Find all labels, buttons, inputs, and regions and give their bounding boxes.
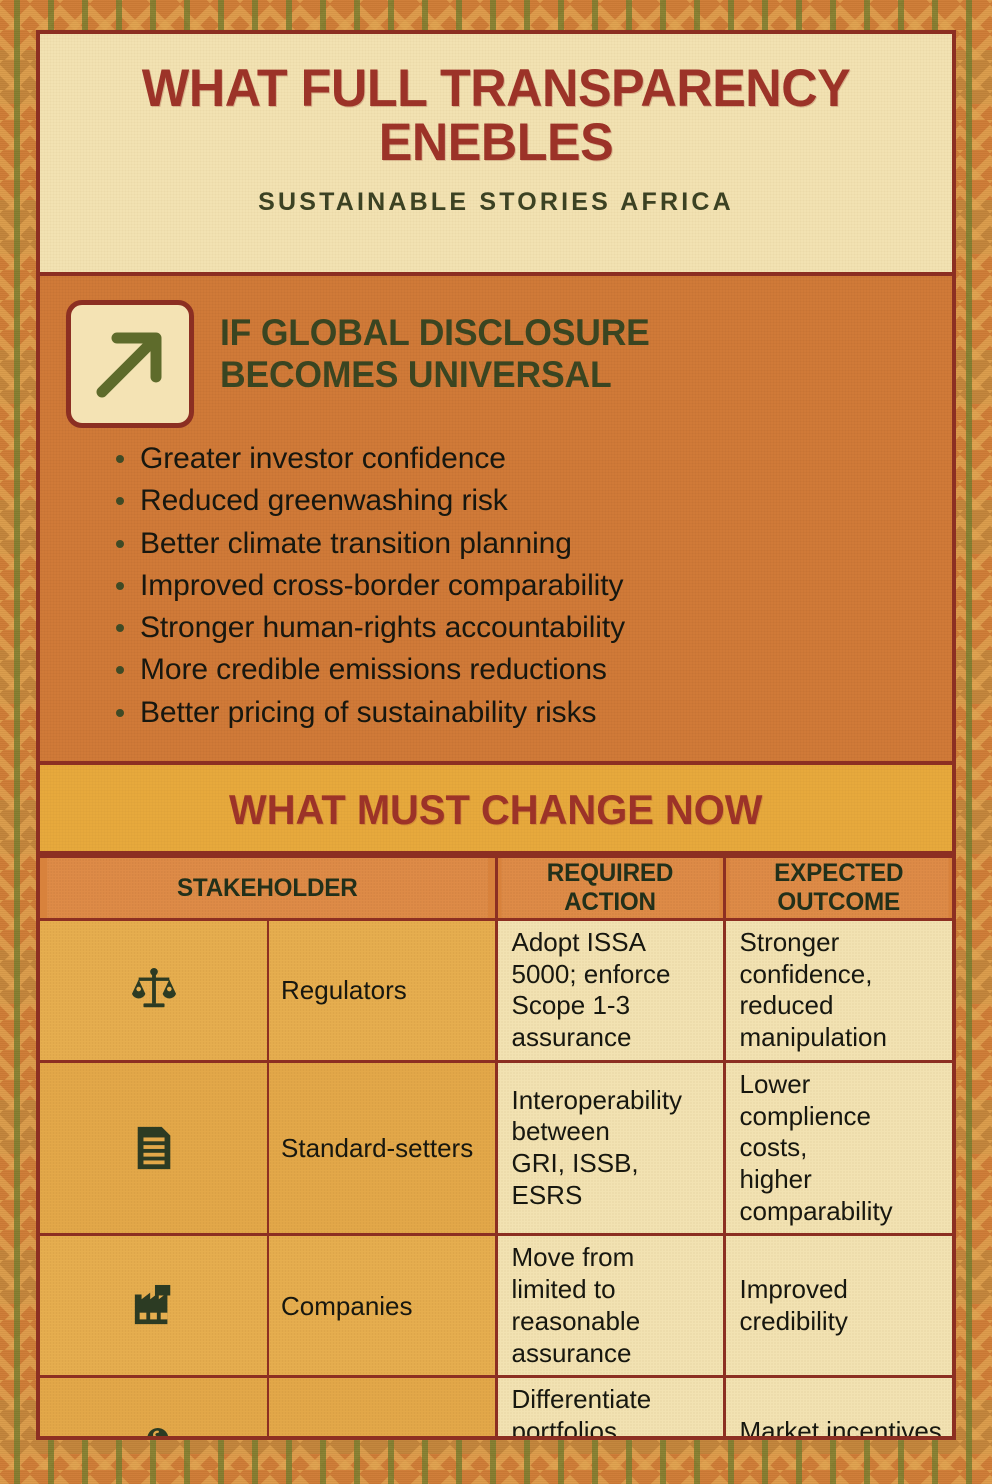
table-row: Regulators Adopt ISSA 5000; enforce Scop… (40, 920, 952, 1062)
expected-outcome-cell: Market incentives for transition (724, 1377, 952, 1440)
action-banner: WHAT MUST CHANGE NOW (40, 765, 952, 855)
table-header-row: STAKEHOLDER REQUIRED ACTION EXPECTED OUT… (40, 857, 952, 920)
scenario-heading-line1: IF GLOBAL DISCLOSURE (220, 312, 650, 354)
outcome-line: Lower complience costs, (740, 1069, 943, 1164)
page-subtitle: SUSTAINABLE STORIES AFRICA (60, 188, 932, 217)
action-line: Adopt ISSA 5000; enforce (512, 927, 713, 990)
list-item: Better climate transition planning (114, 523, 926, 565)
outcome-line: Market incentives (740, 1416, 943, 1440)
action-line: Differentiate portfolios (512, 1384, 713, 1440)
scenario-panel-header: IF GLOBAL DISCLOSURE BECOMES UNIVERSAL (66, 300, 926, 428)
stakeholder-action-table: STAKEHOLDER REQUIRED ACTION EXPECTED OUT… (40, 855, 952, 1440)
scenario-heading: IF GLOBAL DISCLOSURE BECOMES UNIVERSAL (220, 300, 650, 396)
document-icon (40, 1061, 268, 1235)
column-header-expected-outcome: EXPECTED OUTCOME (727, 857, 948, 920)
outcome-line: Stronger confidence, (740, 927, 943, 990)
page-title-line2: ENEBLES (82, 116, 910, 170)
column-header-required-action: REQUIRED ACTION (499, 857, 720, 920)
list-item: Stronger human-rights accountability (114, 607, 926, 649)
expected-outcome-cell: Lower complience costs, higher comparabi… (724, 1061, 952, 1235)
poster-card: WHAT FULL TRANSPARENCY ENEBLES SUSTAINAB… (36, 30, 956, 1440)
expected-outcome-cell: Improved credibility (724, 1235, 952, 1377)
action-line: GRI, ISSB, ESRS (512, 1148, 713, 1211)
required-action-cell: Differentiate portfolios between emitter… (496, 1377, 724, 1440)
title-block: WHAT FULL TRANSPARENCY ENEBLES SUSTAINAB… (40, 34, 952, 276)
page-title: WHAT FULL TRANSPARENCY ENEBLES (82, 62, 910, 170)
action-line: reasonable assurance (512, 1306, 713, 1369)
table-row: Standard-setters Interoperability betwee… (40, 1061, 952, 1235)
scenario-heading-line2: BECOMES UNIVERSAL (220, 354, 650, 396)
outcome-line: Improved credibility (740, 1274, 943, 1337)
expected-outcome-cell: Stronger confidence, reduced manipulatio… (724, 920, 952, 1062)
arrow-up-right-icon (66, 300, 194, 428)
factory-icon (40, 1235, 268, 1377)
stakeholder-label: Standard-setters (268, 1061, 496, 1235)
list-item: More credible emissions reductions (114, 649, 926, 691)
stakeholder-label: Companies (268, 1235, 496, 1377)
hand-holding-coin-icon (40, 1377, 268, 1440)
stakeholder-label: Regulators (268, 920, 496, 1062)
benefits-list: Greater investor confidence Reduced gree… (66, 438, 926, 734)
table-header: STAKEHOLDER REQUIRED ACTION EXPECTED OUT… (40, 857, 952, 920)
required-action-cell: Interoperability between GRI, ISSB, ESRS (496, 1061, 724, 1235)
page-title-line1: WHAT FULL TRANSPARENCY (82, 62, 910, 116)
table-row: Companies Move from limited to reasonabl… (40, 1235, 952, 1377)
outcome-line: higher comparability (740, 1164, 943, 1227)
table-row: Investors Differentiate portfolios betwe… (40, 1377, 952, 1440)
column-header-stakeholder: STAKEHOLDER (47, 857, 489, 920)
stakeholder-label: Investors (268, 1377, 496, 1440)
list-item: Greater investor confidence (114, 438, 926, 480)
action-line: Scope 1-3 assurance (512, 990, 713, 1053)
scales-of-justice-icon (40, 920, 268, 1062)
action-line: Interoperability between (512, 1085, 713, 1148)
list-item: Reduced greenwashing risk (114, 480, 926, 522)
list-item: Better pricing of sustainability risks (114, 692, 926, 734)
action-line: Move from limited to (512, 1242, 713, 1305)
table-body: Regulators Adopt ISSA 5000; enforce Scop… (40, 920, 952, 1441)
list-item: Improved cross-border comparability (114, 565, 926, 607)
required-action-cell: Move from limited to reasonable assuranc… (496, 1235, 724, 1377)
outcome-line: reduced manipulation (740, 990, 943, 1053)
required-action-cell: Adopt ISSA 5000; enforce Scope 1-3 assur… (496, 920, 724, 1062)
scenario-panel: IF GLOBAL DISCLOSURE BECOMES UNIVERSAL G… (40, 276, 952, 765)
action-banner-label: WHAT MUST CHANGE NOW (229, 765, 762, 855)
